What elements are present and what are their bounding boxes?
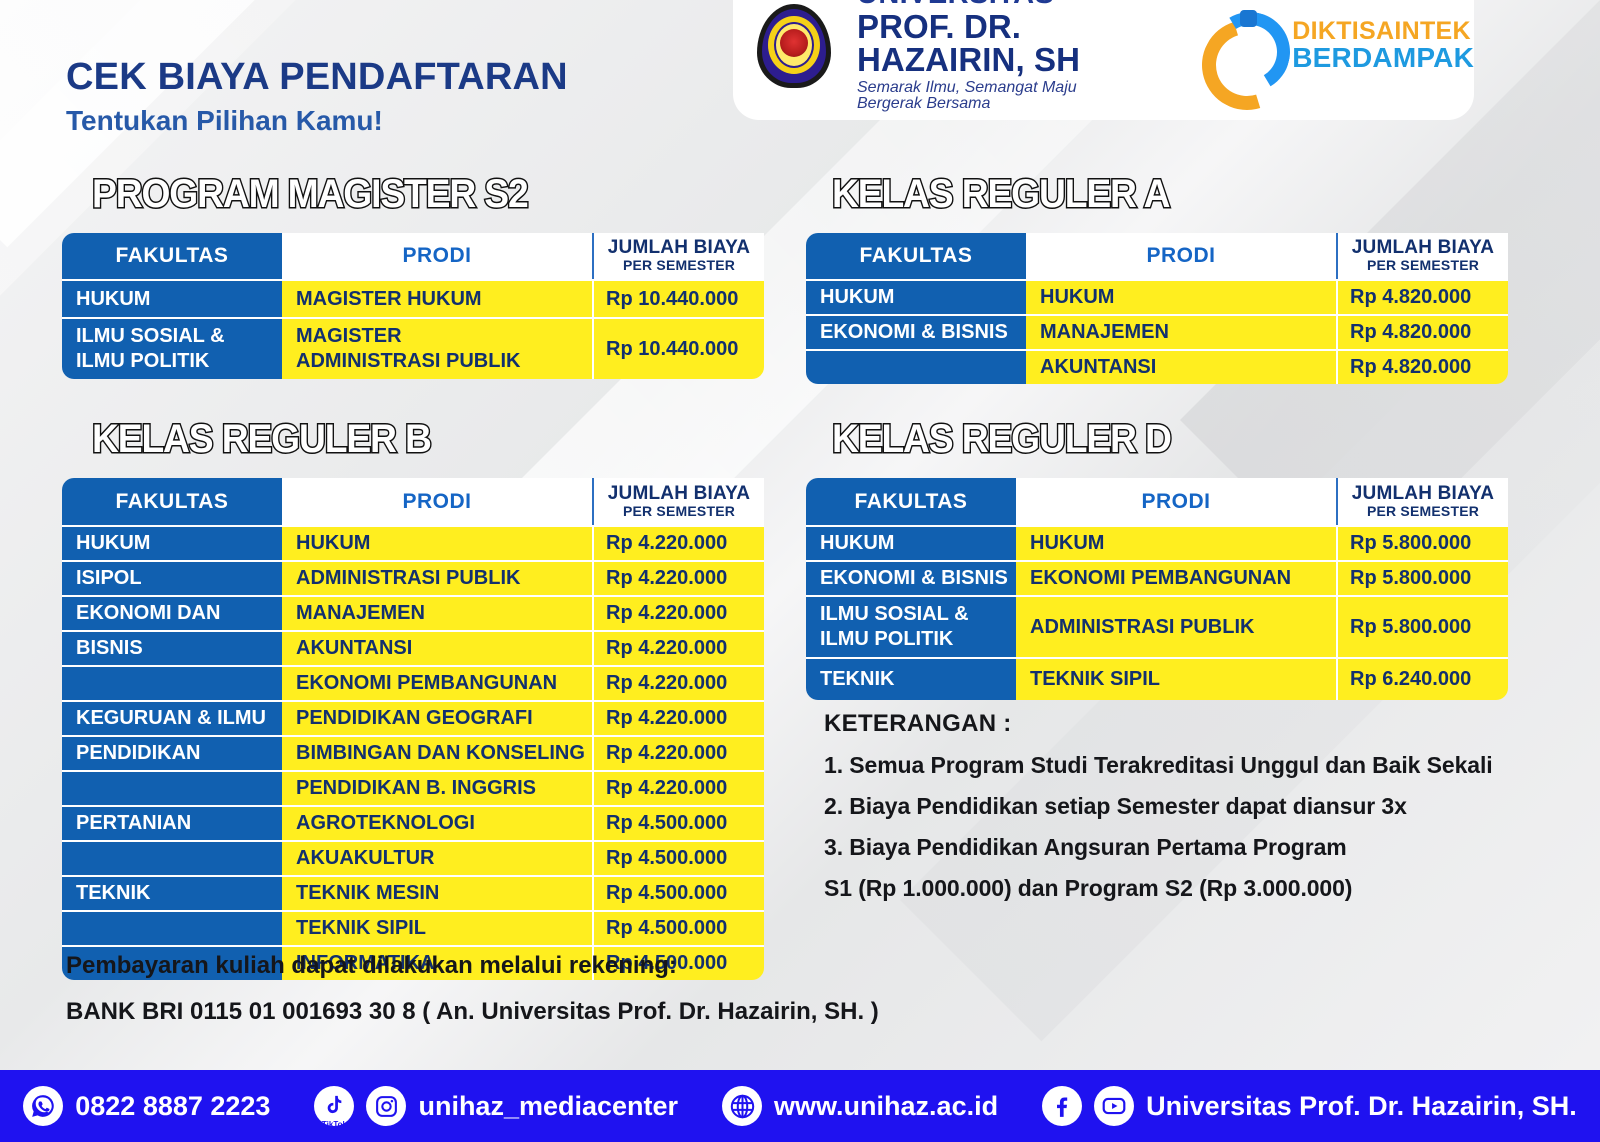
cell-biaya: Rp 4.820.000 [1336, 349, 1508, 384]
cell-prodi: AKUNTANSI [1026, 349, 1336, 384]
cell-fakultas: BISNIS [62, 630, 282, 665]
cell-fakultas [62, 840, 282, 875]
table-row: PERTANIANAGROTEKNOLOGIRp 4.500.000 [62, 805, 764, 840]
tiktok-label: TikTok [314, 1120, 354, 1129]
col-header-prodi: PRODI [1016, 478, 1336, 525]
cell-prodi: EKONOMI PEMBANGUNAN [282, 665, 592, 700]
table-magister-s2: FAKULTASPRODIJUMLAH BIAYAPER SEMESTERHUK… [62, 233, 764, 379]
cell-prodi: HUKUM [1026, 279, 1336, 314]
cell-biaya: Rp 4.220.000 [592, 665, 764, 700]
footer-page-name: Universitas Prof. Dr. Hazairin, SH. [1146, 1091, 1577, 1122]
table-header-row: FAKULTASPRODIJUMLAH BIAYAPER SEMESTER [806, 233, 1508, 279]
table-row: TEKNIKTEKNIK SIPILRp 6.240.000 [806, 657, 1508, 700]
table-row: KEGURUAN & ILMUPENDIDIKAN GEOGRAFIRp 4.2… [62, 700, 764, 735]
table-reguler-d: FAKULTASPRODIJUMLAH BIAYAPER SEMESTERHUK… [806, 478, 1508, 700]
table-row: ILMU SOSIAL & ILMU POLITIKMAGISTER ADMIN… [62, 317, 764, 379]
diktisaintek-logo: DIKTISAINTEK BERDAMPAK [1198, 8, 1474, 84]
cell-fakultas [62, 665, 282, 700]
col-header-fakultas: FAKULTAS [62, 478, 282, 525]
diktisaintek-mark-icon [1198, 8, 1278, 84]
cell-prodi: BIMBINGAN DAN KONSELING [282, 735, 592, 770]
cell-fakultas: ISIPOL [62, 560, 282, 595]
cell-biaya: Rp 4.220.000 [592, 525, 764, 560]
cell-biaya: Rp 4.500.000 [592, 875, 764, 910]
cell-prodi: MANAJEMEN [1026, 314, 1336, 349]
footer-phone-text: 0822 8887 2223 [75, 1091, 270, 1122]
table-row: EKONOMI & BISNISEKONOMI PEMBANGUNANRp 5.… [806, 560, 1508, 595]
cell-fakultas [806, 349, 1026, 384]
table-row: ILMU SOSIAL & ILMU POLITIKADMINISTRASI P… [806, 595, 1508, 657]
footer-whatsapp[interactable]: 0822 8887 2223 [23, 1086, 270, 1126]
keterangan-block: KETERANGAN : 1. Semua Program Studi Tera… [824, 710, 1524, 902]
footer-social-handle: unihaz_mediacenter [418, 1091, 678, 1122]
facebook-icon[interactable] [1042, 1086, 1082, 1126]
tiktok-icon[interactable]: TikTok [314, 1086, 354, 1126]
table-reguler-a: FAKULTASPRODIJUMLAH BIAYAPER SEMESTERHUK… [806, 233, 1508, 384]
cell-biaya: Rp 4.220.000 [592, 770, 764, 805]
table-row: AKUAKULTURRp 4.500.000 [62, 840, 764, 875]
col-header-biaya: JUMLAH BIAYAPER SEMESTER [592, 233, 764, 279]
table-row: HUKUMHUKUMRp 4.820.000 [806, 279, 1508, 314]
table-reguler-b: FAKULTASPRODIJUMLAH BIAYAPER SEMESTERHUK… [62, 478, 764, 980]
cell-biaya: Rp 4.220.000 [592, 560, 764, 595]
cell-biaya: Rp 10.440.000 [592, 279, 764, 317]
page-title: CEK BIAYA PENDAFTARAN [66, 56, 568, 99]
cell-biaya: Rp 4.500.000 [592, 840, 764, 875]
footer-pages[interactable]: Universitas Prof. Dr. Hazairin, SH. [1042, 1086, 1577, 1126]
cell-fakultas: HUKUM [62, 279, 282, 317]
cell-biaya: Rp 10.440.000 [592, 317, 764, 379]
keterangan-item-1: 1. Semua Program Studi Terakreditasi Ung… [824, 752, 1524, 779]
table-row: EKONOMI PEMBANGUNANRp 4.220.000 [62, 665, 764, 700]
table-header-row: FAKULTASPRODIJUMLAH BIAYAPER SEMESTER [62, 233, 764, 279]
cell-fakultas: HUKUM [62, 525, 282, 560]
cell-fakultas: HUKUM [806, 525, 1016, 560]
table-row: BISNISAKUNTANSIRp 4.220.000 [62, 630, 764, 665]
cell-biaya: Rp 4.820.000 [1336, 314, 1508, 349]
table-row: PENDIDIKAN B. INGGRISRp 4.220.000 [62, 770, 764, 805]
keterangan-item-2: 2. Biaya Pendidikan setiap Semester dapa… [824, 793, 1524, 820]
cell-fakultas: EKONOMI & BISNIS [806, 560, 1016, 595]
cell-biaya: Rp 4.220.000 [592, 630, 764, 665]
table-row: HUKUMMAGISTER HUKUMRp 10.440.000 [62, 279, 764, 317]
col-header-biaya: JUMLAH BIAYAPER SEMESTER [1336, 233, 1508, 279]
cell-biaya: Rp 4.220.000 [592, 735, 764, 770]
cell-fakultas [62, 770, 282, 805]
bank-note-line1: Pembayaran kuliah dapat dilakukan melalu… [66, 952, 1166, 980]
cell-prodi: HUKUM [1016, 525, 1336, 560]
table-row: EKONOMI & BISNISMANAJEMENRp 4.820.000 [806, 314, 1508, 349]
keterangan-item-3: 3. Biaya Pendidikan Angsuran Pertama Pro… [824, 834, 1524, 861]
cell-prodi: PENDIDIKAN B. INGGRIS [282, 770, 592, 805]
cell-fakultas: ILMU SOSIAL & ILMU POLITIK [62, 317, 282, 379]
keterangan-item-4: S1 (Rp 1.000.000) dan Program S2 (Rp 3.0… [824, 875, 1524, 902]
university-tagline: Semarak Ilmu, Semangat Maju Bergerak Ber… [857, 80, 1138, 112]
cell-prodi: TEKNIK SIPIL [282, 910, 592, 945]
globe-icon[interactable] [722, 1086, 762, 1126]
cell-prodi: PENDIDIKAN GEOGRAFI [282, 700, 592, 735]
table-row: AKUNTANSIRp 4.820.000 [806, 349, 1508, 384]
cell-prodi: MAGISTER ADMINISTRASI PUBLIK [282, 317, 592, 379]
youtube-icon[interactable] [1094, 1086, 1134, 1126]
col-header-biaya: JUMLAH BIAYAPER SEMESTER [592, 478, 764, 525]
cell-biaya: Rp 4.820.000 [1336, 279, 1508, 314]
col-header-fakultas: FAKULTAS [806, 233, 1026, 279]
cell-prodi: TEKNIK MESIN [282, 875, 592, 910]
table-row: TEKNIK SIPILRp 4.500.000 [62, 910, 764, 945]
section-title-reguler-b: KELAS REGULER B [92, 417, 431, 462]
footer-website[interactable]: www.unihaz.ac.id [722, 1086, 998, 1126]
table-row: ISIPOLADMINISTRASI PUBLIKRp 4.220.000 [62, 560, 764, 595]
cell-prodi: MAGISTER HUKUM [282, 279, 592, 317]
section-title-reguler-d: KELAS REGULER D [832, 417, 1171, 462]
cell-prodi: ADMINISTRASI PUBLIK [1016, 595, 1336, 657]
page-subtitle: Tentukan Pilihan Kamu! [66, 105, 383, 137]
logo-card: UNIVERSITAS PROF. DR. HAZAIRIN, SH Semar… [733, 0, 1474, 120]
instagram-icon[interactable] [366, 1086, 406, 1126]
cell-prodi: HUKUM [282, 525, 592, 560]
university-line2: PROF. DR. HAZAIRIN, SH [857, 10, 1138, 76]
table-row: PENDIDIKANBIMBINGAN DAN KONSELINGRp 4.22… [62, 735, 764, 770]
cell-prodi: AGROTEKNOLOGI [282, 805, 592, 840]
section-title-magister-s2: PROGRAM MAGISTER S2 [92, 172, 528, 217]
col-header-prodi: PRODI [282, 233, 592, 279]
bank-note: Pembayaran kuliah dapat dilakukan melalu… [66, 952, 1166, 1026]
cell-prodi: ADMINISTRASI PUBLIK [282, 560, 592, 595]
cell-biaya: Rp 4.220.000 [592, 595, 764, 630]
cell-fakultas: EKONOMI DAN [62, 595, 282, 630]
bank-note-line2: BANK BRI 0115 01 001693 30 8 ( An. Unive… [66, 998, 1166, 1026]
table-row: HUKUMHUKUMRp 5.800.000 [806, 525, 1508, 560]
cell-biaya: Rp 5.800.000 [1336, 595, 1508, 657]
cell-fakultas: HUKUM [806, 279, 1026, 314]
footer-website-text: www.unihaz.ac.id [774, 1091, 998, 1122]
cell-biaya: Rp 4.220.000 [592, 700, 764, 735]
col-header-biaya: JUMLAH BIAYAPER SEMESTER [1336, 478, 1508, 525]
cell-fakultas: PENDIDIKAN [62, 735, 282, 770]
cell-fakultas [62, 910, 282, 945]
table-header-row: FAKULTASPRODIJUMLAH BIAYAPER SEMESTER [806, 478, 1508, 525]
cell-biaya: Rp 6.240.000 [1336, 657, 1508, 700]
table-header-row: FAKULTASPRODIJUMLAH BIAYAPER SEMESTER [62, 478, 764, 525]
cell-biaya: Rp 5.800.000 [1336, 525, 1508, 560]
cell-fakultas: EKONOMI & BISNIS [806, 314, 1026, 349]
cell-prodi: AKUNTANSI [282, 630, 592, 665]
cell-fakultas: PERTANIAN [62, 805, 282, 840]
footer-social[interactable]: TikTok unihaz_mediacenter [314, 1086, 678, 1126]
table-row: HUKUMHUKUMRp 4.220.000 [62, 525, 764, 560]
cell-biaya: Rp 4.500.000 [592, 910, 764, 945]
diktisaintek-line2: BERDAMPAK [1292, 44, 1474, 73]
cell-prodi: TEKNIK SIPIL [1016, 657, 1336, 700]
cell-biaya: Rp 4.500.000 [592, 805, 764, 840]
col-header-prodi: PRODI [1026, 233, 1336, 279]
cell-prodi: MANAJEMEN [282, 595, 592, 630]
table-row: TEKNIKTEKNIK MESINRp 4.500.000 [62, 875, 764, 910]
cell-prodi: AKUAKULTUR [282, 840, 592, 875]
cell-prodi: EKONOMI PEMBANGUNAN [1016, 560, 1336, 595]
whatsapp-icon[interactable] [23, 1086, 63, 1126]
university-wordmark: UNIVERSITAS PROF. DR. HAZAIRIN, SH Semar… [857, 0, 1138, 112]
col-header-fakultas: FAKULTAS [62, 233, 282, 279]
cell-fakultas: KEGURUAN & ILMU [62, 700, 282, 735]
diktisaintek-line1: DIKTISAINTEK [1292, 19, 1474, 45]
col-header-fakultas: FAKULTAS [806, 478, 1016, 525]
section-title-reguler-a: KELAS REGULER A [832, 172, 1169, 217]
cell-fakultas: TEKNIK [62, 875, 282, 910]
keterangan-title: KETERANGAN : [824, 710, 1524, 738]
table-row: EKONOMI DANMANAJEMENRp 4.220.000 [62, 595, 764, 630]
footer-bar: 0822 8887 2223 TikTok unihaz_mediacenter [0, 1070, 1600, 1142]
university-crest-icon [757, 4, 831, 88]
cell-biaya: Rp 5.800.000 [1336, 560, 1508, 595]
cell-fakultas: ILMU SOSIAL & ILMU POLITIK [806, 595, 1016, 657]
col-header-prodi: PRODI [282, 478, 592, 525]
cell-fakultas: TEKNIK [806, 657, 1016, 700]
